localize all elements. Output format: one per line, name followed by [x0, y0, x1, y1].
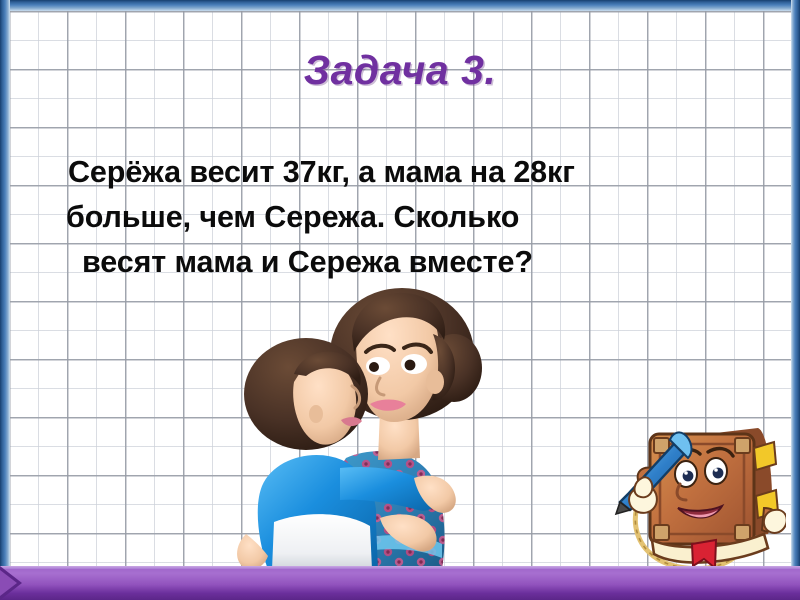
- problem-text: Серёжа весит 37кг, а мама на 28кг больше…: [46, 150, 746, 285]
- boy-trousers: [272, 514, 372, 570]
- book-bookmark: [692, 540, 716, 568]
- banner-chevron-inner-icon: [0, 570, 17, 596]
- bottom-banner: [0, 566, 800, 600]
- problem-line-1: Серёжа весит 37кг, а мама на 28кг: [46, 150, 746, 195]
- boy-ear: [309, 405, 323, 423]
- mother-ear: [426, 370, 444, 394]
- problem-line-3: весят мама и Сережа вместе?: [46, 240, 746, 285]
- book-glove-right: [764, 510, 786, 533]
- book-corner-br: [735, 525, 750, 540]
- problem-line-2: больше, чем Сережа. Сколько: [46, 195, 746, 240]
- cartoon-book-illustration: [608, 416, 786, 584]
- slide-title: Задача 3.: [0, 47, 800, 94]
- banner-body: [0, 566, 800, 600]
- slide-canvas: Задача 3. Серёжа весит 37кг, а мама на 2…: [0, 0, 800, 600]
- book-band-top: [754, 442, 776, 470]
- book-corner-bl: [654, 525, 669, 540]
- mother-and-boy-illustration: [228, 282, 486, 570]
- banner-highlight: [0, 566, 800, 569]
- book-corner-tr: [735, 438, 750, 453]
